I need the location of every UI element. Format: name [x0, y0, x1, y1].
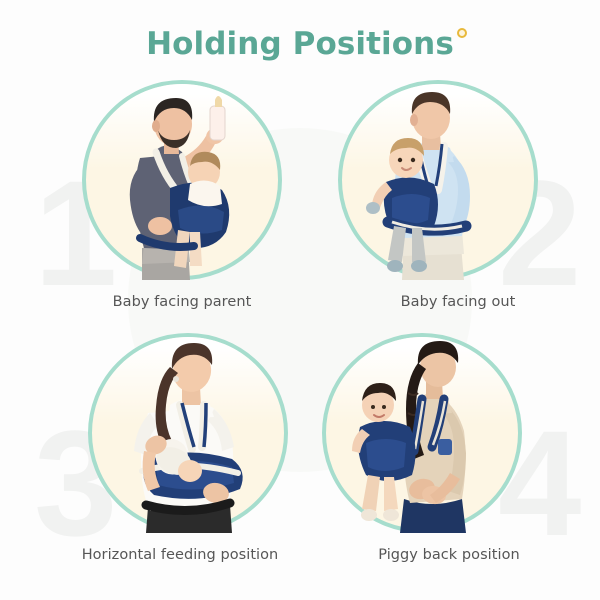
position-caption-1: Baby facing parent: [20, 294, 292, 310]
position-card-3[interactable]: Horizontal feeding position: [20, 333, 292, 563]
position-card-1[interactable]: Baby facing parent: [20, 80, 292, 310]
page-title-text: Holding Positions: [146, 26, 454, 62]
photo-frame-1: [82, 80, 282, 280]
page-title-container: Holding Positions: [0, 26, 600, 62]
photo-frame-4: [322, 333, 522, 533]
page-title: Holding Positions: [146, 26, 454, 62]
position-caption-3: Horizontal feeding position: [20, 547, 292, 563]
holding-positions-infographic: 1 2 3 4 Holding Positions: [0, 0, 600, 600]
title-accent-dot-icon: [457, 28, 467, 38]
photo-piggy-back-position: [322, 333, 522, 533]
position-caption-4: Piggy back position: [308, 547, 580, 563]
photo-baby-facing-parent: [82, 80, 282, 280]
photo-frame-2: [338, 80, 538, 280]
position-card-4[interactable]: Piggy back position: [308, 333, 580, 563]
position-card-2[interactable]: Baby facing out: [308, 80, 580, 310]
photo-baby-facing-out: [338, 80, 538, 280]
position-caption-2: Baby facing out: [308, 294, 580, 310]
positions-grid: Baby facing parent: [0, 0, 600, 600]
photo-horizontal-feeding-position: [88, 333, 288, 533]
photo-frame-3: [88, 333, 288, 533]
